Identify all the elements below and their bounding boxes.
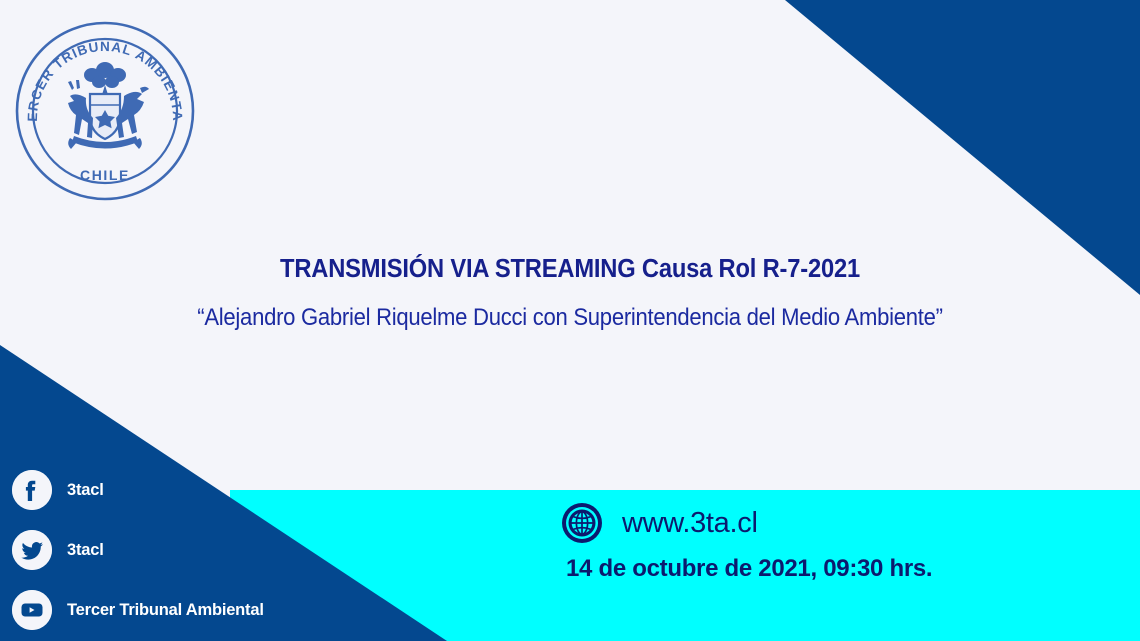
social-item-youtube[interactable]: Tercer Tribunal Ambiental (12, 580, 342, 640)
globe-icon (560, 501, 604, 545)
coat-of-arms (68, 62, 149, 149)
event-info-block: www.3ta.cl 14 de octubre de 2021, 09:30 … (560, 500, 1080, 581)
streaming-announcement-poster: TERCER TRIBUNAL AMBIENTAL CHILE (0, 0, 1140, 641)
navy-corner-triangle-top-right (785, 0, 1140, 295)
case-subtitle: “Alejandro Gabriel Riquelme Ducci con Su… (46, 305, 1095, 331)
seal-bottom-text: CHILE (80, 167, 130, 183)
website-row[interactable]: www.3ta.cl (560, 500, 1080, 546)
facebook-icon[interactable] (12, 470, 52, 510)
social-handle-youtube: Tercer Tribunal Ambiental (67, 601, 264, 620)
website-url[interactable]: www.3ta.cl (622, 509, 758, 538)
institution-logo: TERCER TRIBUNAL AMBIENTAL CHILE (14, 20, 196, 202)
headline-block: TRANSMISIÓN VIA STREAMING Causa Rol R-7-… (0, 255, 1140, 331)
twitter-icon[interactable] (12, 530, 52, 570)
social-links-list: 3tacl 3tacl Tercer Tribunal Ambiental (12, 460, 342, 640)
social-handle-facebook: 3tacl (67, 481, 104, 500)
youtube-icon[interactable] (12, 590, 52, 630)
social-handle-twitter: 3tacl (67, 541, 104, 560)
plume-crest (84, 62, 126, 88)
event-datetime: 14 de octubre de 2021, 09:30 hrs. (566, 557, 1080, 581)
social-item-facebook[interactable]: 3tacl (12, 460, 342, 520)
page-title: TRANSMISIÓN VIA STREAMING Causa Rol R-7-… (40, 255, 1100, 283)
social-item-twitter[interactable]: 3tacl (12, 520, 342, 580)
